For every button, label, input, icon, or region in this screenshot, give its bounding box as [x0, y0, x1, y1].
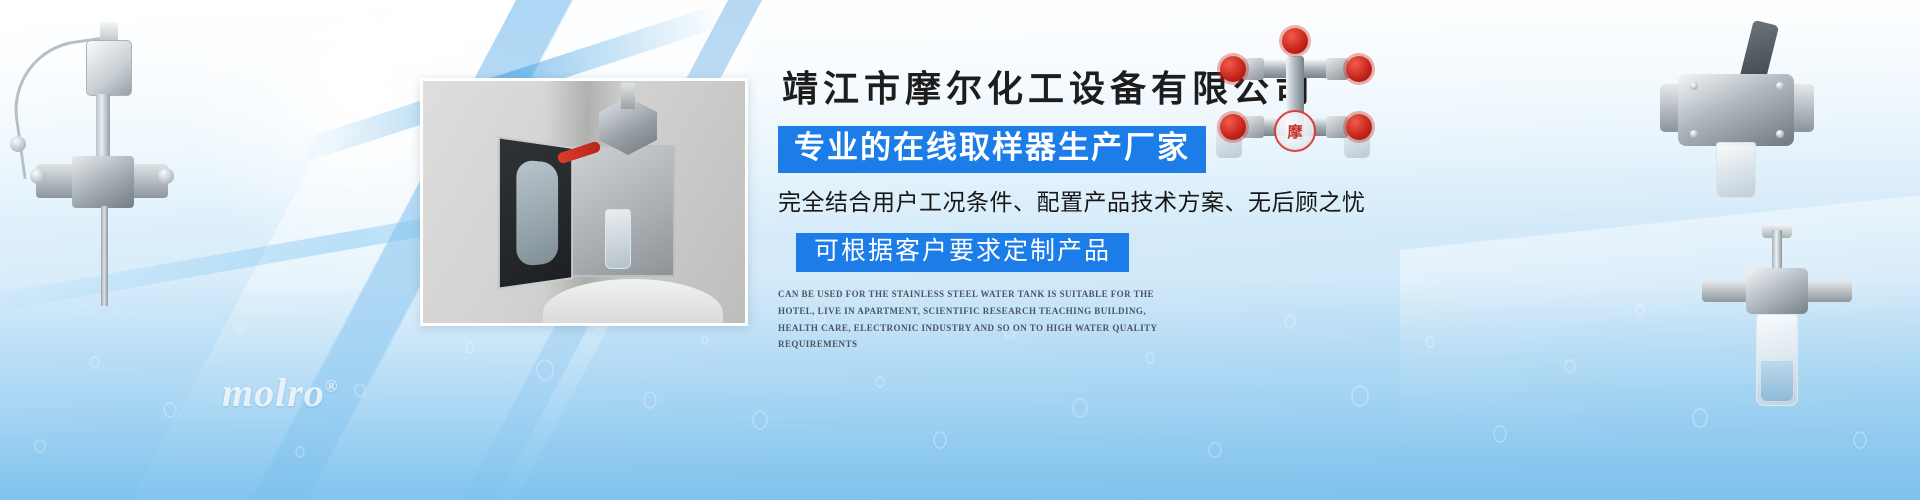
lever-valve-body-icon — [1660, 22, 1820, 202]
manifold-brand-badge: 摩 — [1274, 110, 1316, 152]
tagline-badge: 专业的在线取样器生产厂家 — [778, 126, 1206, 174]
online-sampler-cabinet-photo — [420, 78, 748, 326]
sampler-rig-silhouette-icon — [8, 18, 198, 318]
brand-watermark: molro® — [222, 369, 339, 416]
customization-badge: 可根据客户要求定制产品 — [796, 233, 1129, 273]
inline-bottle-sampler-icon — [1700, 230, 1860, 420]
registered-mark: ® — [325, 377, 339, 396]
watermark-text: molro — [222, 370, 325, 415]
promo-banner: 靖江市摩尔化工设备有限公司 专业的在线取样器生产厂家 完全结合用户工况条件、配置… — [0, 0, 1920, 500]
red-handwheel-valve-manifold-icon: 摩 — [1210, 30, 1380, 160]
english-description: CAN BE USED FOR THE STAINLESS STEEL WATE… — [778, 286, 1184, 353]
value-proposition-line: 完全结合用户工况条件、配置产品技术方案、无后顾之忧 — [778, 189, 1398, 217]
